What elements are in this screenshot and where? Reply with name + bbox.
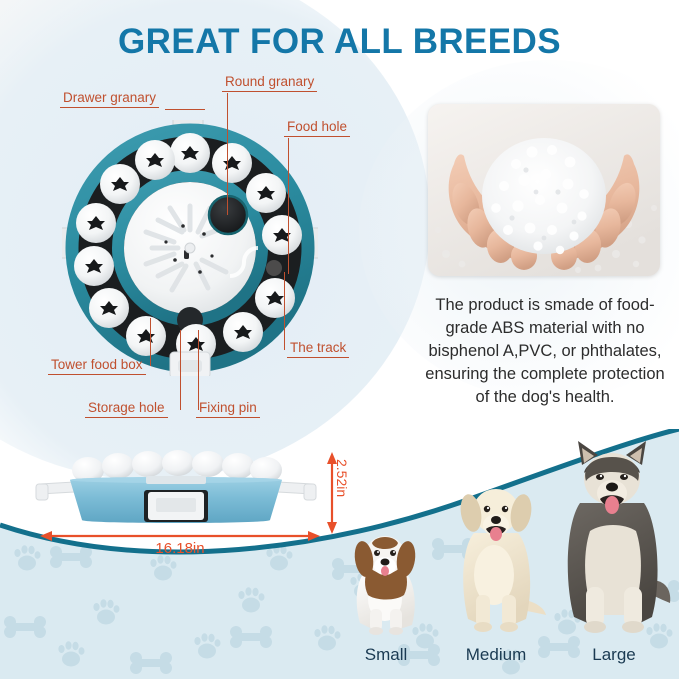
callout-fixing-pin-label: Fixing pin [196, 400, 260, 418]
leader-drawer-granary [165, 109, 205, 110]
callout-the-track: The track [287, 340, 349, 358]
callout-round-granary-label: Round granary [222, 74, 317, 92]
dog-image-medium-labrador [442, 467, 550, 635]
callout-food-hole: Food hole [284, 119, 350, 137]
page-title: GREAT FOR ALL BREEDS [0, 22, 679, 62]
callout-round-granary: Round granary [222, 74, 317, 92]
size-label-large: Large [552, 645, 676, 665]
size-label-small: Small [338, 645, 434, 665]
callout-the-track-label: The track [287, 340, 349, 358]
dog-image-large-malamute [552, 431, 676, 635]
callout-fixing-pin: Fixing pin [196, 400, 260, 418]
callout-tower-food-box: Tower food box [48, 357, 146, 375]
dimension-height-label: 2.52in [334, 459, 350, 497]
dog-image-small-beagle [338, 511, 434, 635]
callout-storage-hole-label: Storage hole [85, 400, 168, 418]
product-diagram-top-view [62, 120, 318, 376]
product-diagram-side-view [26, 448, 326, 530]
product-infographic: GREAT FOR ALL BREEDS [0, 0, 679, 679]
callout-tower-food-box-label: Tower food box [48, 357, 146, 375]
callout-drawer-granary: Drawer granary [60, 90, 159, 108]
abs-pellets-photo [428, 104, 660, 276]
callout-drawer-granary-label: Drawer granary [60, 90, 159, 108]
material-description: The product is smade of food-grade ABS m… [420, 294, 670, 409]
size-label-medium: Medium [442, 645, 550, 665]
dimension-width-label: 16.18in [40, 540, 320, 557]
callout-storage-hole: Storage hole [85, 400, 168, 418]
callout-food-hole-label: Food hole [284, 119, 350, 137]
